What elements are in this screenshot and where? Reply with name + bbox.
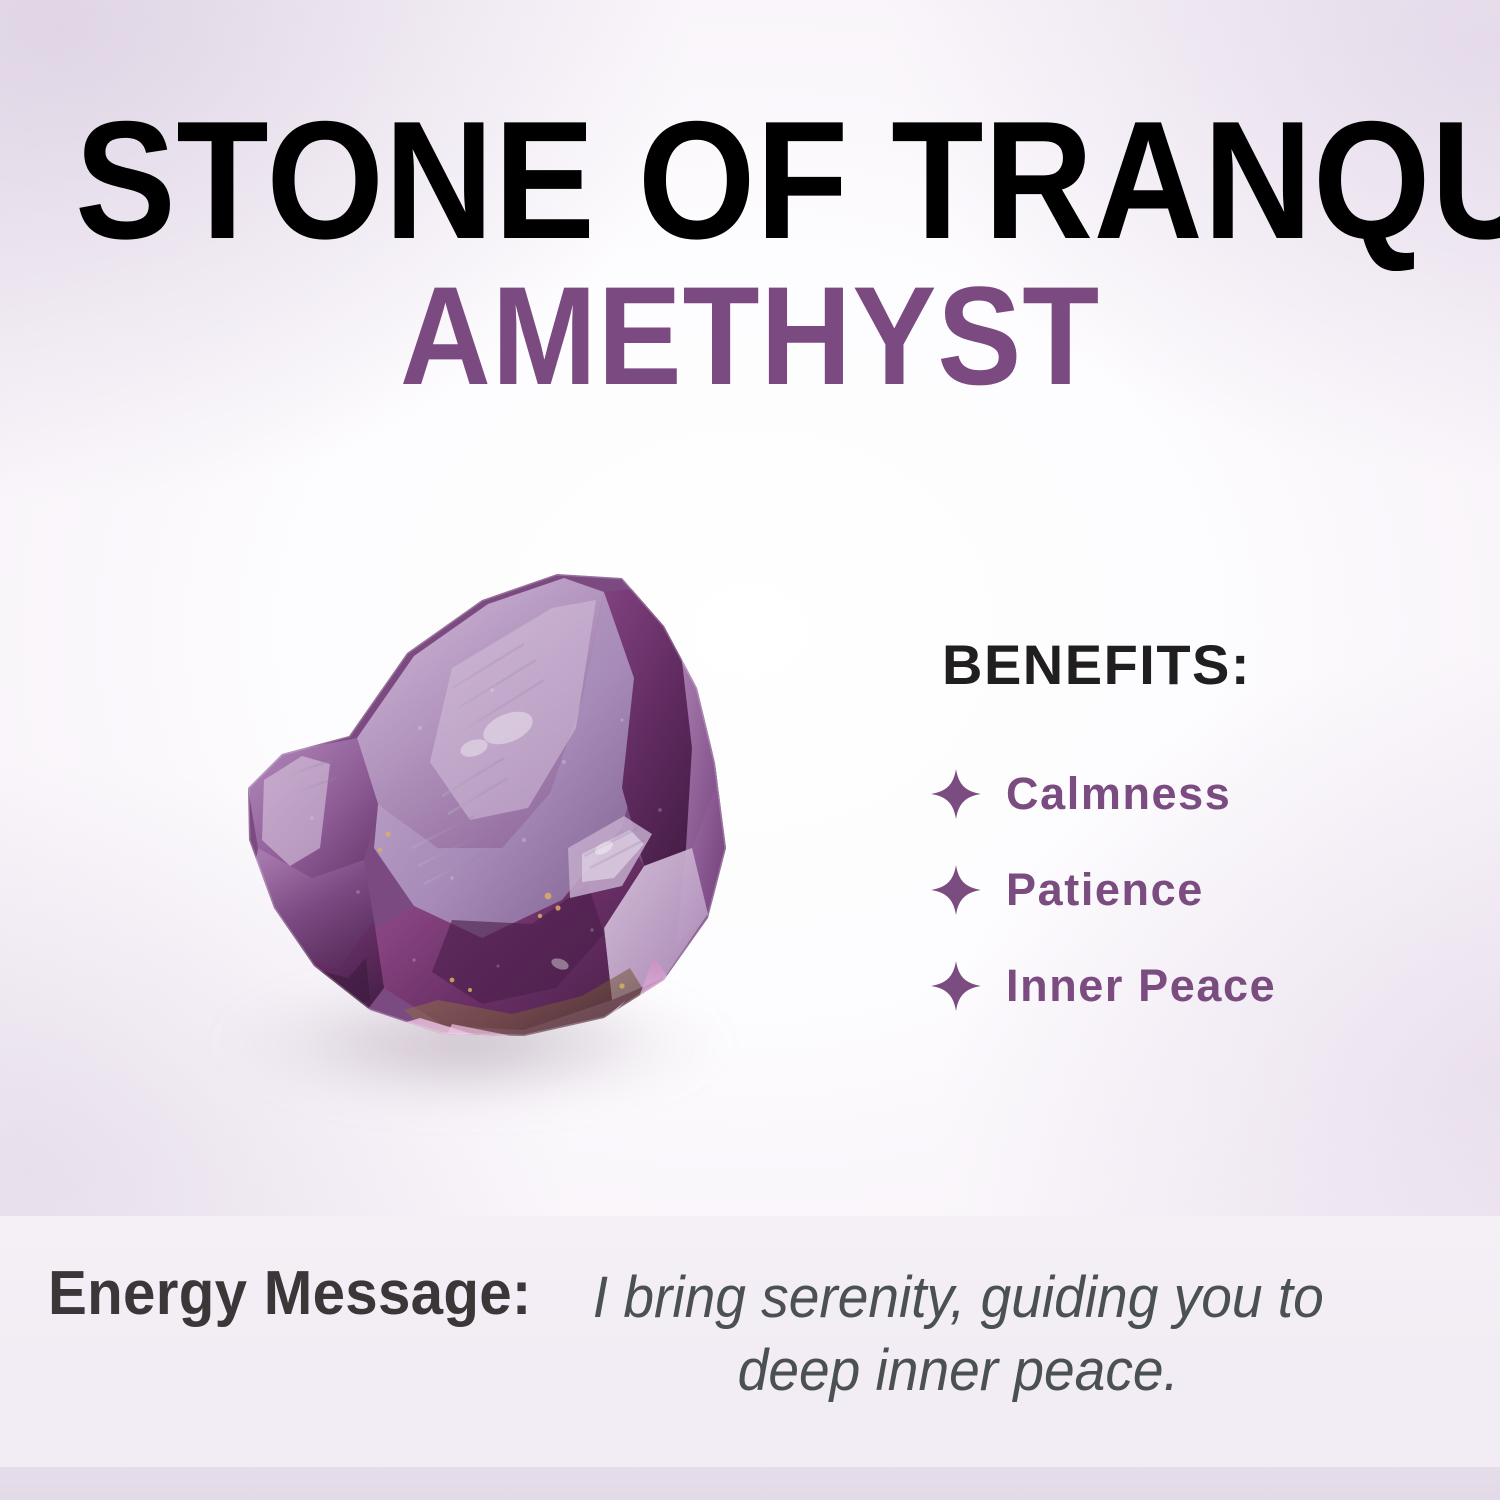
list-item: Patience — [930, 853, 1450, 927]
benefits-section: BENEFITS: Calmness Patience Inner Peace — [930, 632, 1450, 1045]
benefit-label: Inner Peace — [1006, 960, 1276, 1012]
amethyst-info-poster: STONE OF TRANQUILITY AMETHYST — [0, 0, 1500, 1500]
header: STONE OF TRANQUILITY AMETHYST — [0, 112, 1500, 396]
list-item: Inner Peace — [930, 949, 1450, 1023]
energy-message-label: Energy Message: — [48, 1262, 532, 1325]
list-item: Calmness — [930, 757, 1450, 831]
amethyst-crystal-photo — [152, 548, 792, 1148]
crystal-image-container — [152, 548, 792, 1148]
benefits-list: Calmness Patience Inner Peace — [930, 757, 1450, 1023]
four-point-star-icon — [930, 864, 982, 916]
benefits-heading: BENEFITS: — [942, 632, 1450, 697]
page-title: STONE OF TRANQUILITY — [75, 112, 1425, 250]
benefit-label: Calmness — [1006, 768, 1231, 820]
energy-message-text: I bring serenity, guiding you to deep in… — [583, 1262, 1334, 1407]
footer-strip — [0, 1467, 1500, 1500]
four-point-star-icon — [930, 768, 982, 820]
benefit-label: Patience — [1006, 864, 1204, 916]
energy-message-row: Energy Message: I bring serenity, guidin… — [48, 1262, 1440, 1407]
page-subtitle: AMETHYST — [75, 276, 1425, 396]
four-point-star-icon — [930, 960, 982, 1012]
